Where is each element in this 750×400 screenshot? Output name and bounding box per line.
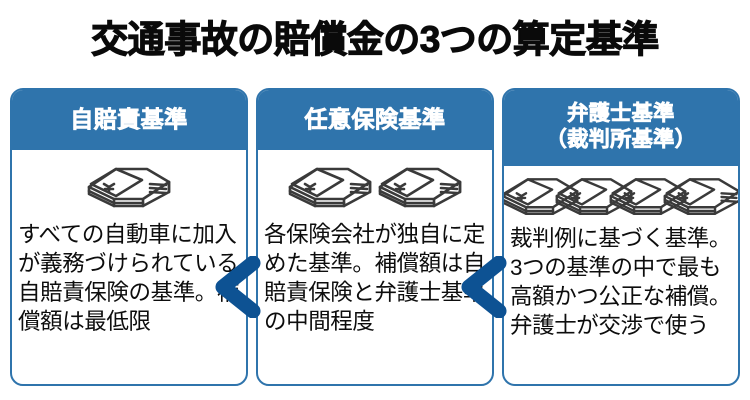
card-header-label: 任意保険基準 [305, 106, 446, 133]
card-header-jibaiseki: 自賠責基準 [10, 88, 248, 150]
yen-banknote-bundle-icon [662, 169, 740, 230]
money-icon-row-nini-hoken [258, 152, 492, 224]
card-bengoshi: 弁護士基準 （裁判所基準） [502, 88, 740, 386]
card-jibaiseki: 自賠責基準 [10, 88, 248, 386]
chevron-left-icon [206, 256, 268, 318]
card-header-nini-hoken: 任意保険基準 [256, 88, 494, 150]
yen-banknote-bundle-icon [86, 160, 172, 217]
yen-banknote-bundle-icon [377, 160, 463, 217]
card-header-bengoshi: 弁護士基準 （裁判所基準） [502, 88, 740, 166]
card-header-label: 自賠責基準 [70, 106, 188, 133]
page-title: 交通事故の賠償金の3つの算定基準 [0, 10, 750, 70]
money-icon-row-jibaiseki [12, 152, 246, 224]
standards-card-group: 自賠責基準 [0, 88, 750, 393]
card-nini-hoken: 任意保険基準 [256, 88, 494, 386]
yen-banknote-bundle-icon [287, 160, 373, 217]
money-icon-row-bengoshi [504, 168, 738, 230]
card-body-text: 裁判例に基づく基準。3つの基準の中で最も高額かつ公正な補償。弁護士が交渉で使う [510, 224, 736, 340]
card-header-label: 弁護士基準 （裁判所基準） [546, 101, 697, 153]
chevron-left-icon [452, 256, 514, 318]
